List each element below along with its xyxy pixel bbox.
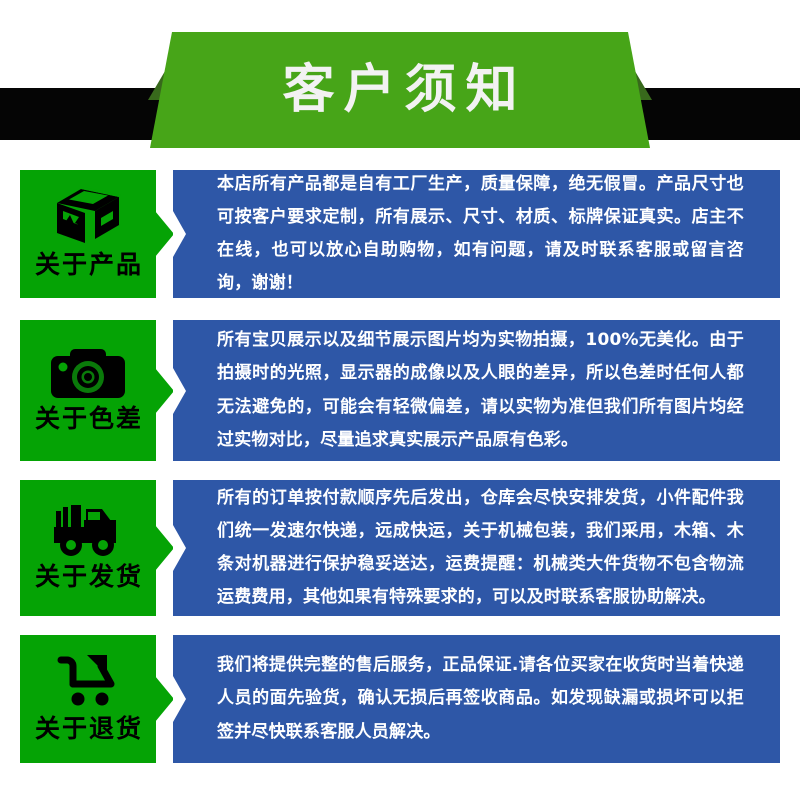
notice-sections: 关于产品 本店所有产品都是自有工厂生产，质量保障，绝无假冒。产品尺寸也可按客户要… bbox=[0, 170, 800, 775]
page-title: 客户须知 bbox=[150, 32, 650, 148]
section-badge-product[interactable]: 关于产品 bbox=[20, 170, 156, 298]
section-badge-shipping[interactable]: 关于发货 bbox=[20, 480, 156, 616]
return-cart-icon bbox=[51, 651, 125, 711]
section-badge-label: 关于色差 bbox=[33, 405, 143, 433]
notice-section: 关于色差 所有宝贝展示以及细节展示图片均为实物拍摄，100%无美化。由于拍摄时的… bbox=[0, 320, 800, 480]
section-text: 本店所有产品都是自有工厂生产，质量保障，绝无假冒。产品尺寸也可按客户要求定制，所… bbox=[173, 168, 780, 301]
section-panel: 本店所有产品都是自有工厂生产，质量保障，绝无假冒。产品尺寸也可按客户要求定制，所… bbox=[173, 170, 780, 298]
notice-section: 关于发货 所有的订单按付款顺序先后发出，仓库会尽快安排发货，小件配件我们统一发速… bbox=[0, 480, 800, 635]
notice-section: 关于产品 本店所有产品都是自有工厂生产，质量保障，绝无假冒。产品尺寸也可按客户要… bbox=[0, 170, 800, 320]
section-badge-label: 关于产品 bbox=[33, 251, 143, 279]
section-panel: 我们将提供完整的售后服务，正品保证.请各位买家在收货时当着快递人员的面先验货，确… bbox=[173, 635, 780, 763]
section-text: 所有的订单按付款顺序先后发出，仓库会尽快安排发货，小件配件我们统一发速尔快递，远… bbox=[173, 482, 780, 615]
section-arrow-icon bbox=[155, 525, 174, 571]
section-arrow-icon bbox=[155, 211, 174, 257]
notice-section: 关于退货 我们将提供完整的售后服务，正品保证.请各位买家在收货时当着快递人员的面… bbox=[0, 635, 800, 775]
section-arrow-icon bbox=[155, 676, 174, 722]
header-banner: 客户须知 bbox=[0, 0, 800, 170]
section-text: 我们将提供完整的售后服务，正品保证.请各位买家在收货时当着快递人员的面先验货，确… bbox=[173, 649, 780, 748]
forklift-truck-icon bbox=[48, 501, 128, 559]
section-badge-return[interactable]: 关于退货 bbox=[20, 635, 156, 763]
section-badge-color[interactable]: 关于色差 bbox=[20, 320, 156, 461]
package-box-icon bbox=[51, 185, 125, 247]
section-panel: 所有的订单按付款顺序先后发出，仓库会尽快安排发货，小件配件我们统一发速尔快递，远… bbox=[173, 480, 780, 616]
section-arrow-icon bbox=[155, 368, 174, 414]
section-panel: 所有宝贝展示以及细节展示图片均为实物拍摄，100%无美化。由于拍摄时的光照，显示… bbox=[173, 320, 780, 461]
section-text: 所有宝贝展示以及细节展示图片均为实物拍摄，100%无美化。由于拍摄时的光照，显示… bbox=[173, 324, 780, 457]
camera-icon bbox=[49, 345, 127, 401]
section-badge-label: 关于发货 bbox=[33, 563, 143, 591]
section-badge-label: 关于退货 bbox=[33, 715, 143, 743]
